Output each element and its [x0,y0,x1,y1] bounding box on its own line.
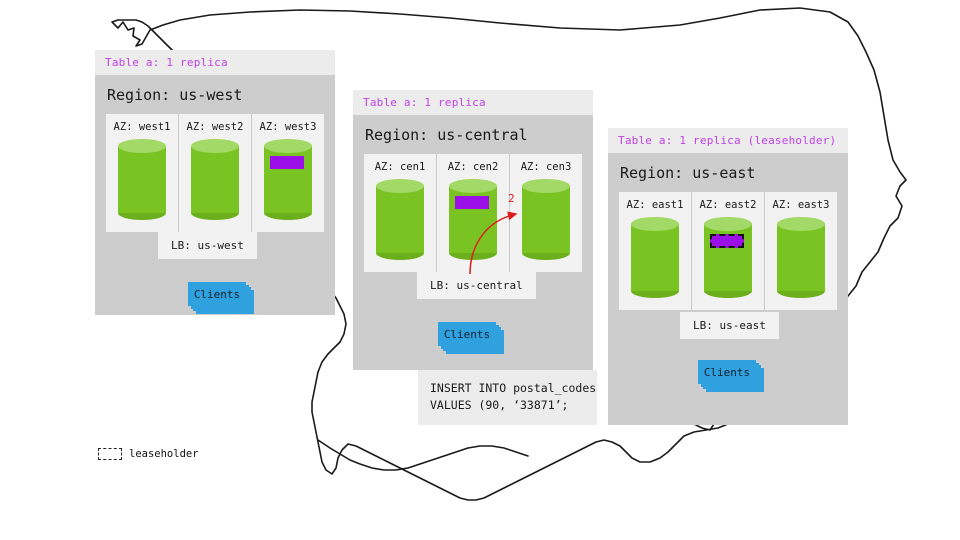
region-title-us-east: Region: us-east [608,153,848,192]
az-cell-cen1[interactable]: AZ: cen1 [364,154,437,272]
az-label-cen2: AZ: cen2 [448,161,499,173]
az-cell-west3[interactable]: AZ: west3 [252,114,324,232]
region-panel-us-west: Table a: 1 replica Region: us-west AZ: w… [95,50,335,315]
az-cell-east2[interactable]: AZ: east2 [692,192,765,310]
replica-block-west3 [270,156,304,169]
routing-arrow-label: 2 [508,192,515,205]
region-header-us-central: Table a: 1 replica [353,90,593,115]
az-label-west3: AZ: west3 [260,121,317,133]
cylinder-body [191,146,239,213]
az-label-cen1: AZ: cen1 [375,161,426,173]
region-title-us-central: Region: us-central [353,115,593,154]
cylinder-top [118,139,166,153]
legend-label: leaseholder [129,448,199,460]
cylinder-top [631,217,679,231]
az-label-west2: AZ: west2 [187,121,244,133]
az-strip-us-east: AZ: east1 AZ: east2 [619,192,837,310]
load-balancer-us-central[interactable]: LB: us-central [417,272,536,299]
cylinder-top [777,217,825,231]
replica-block-cen2 [455,196,489,209]
az-cell-east3[interactable]: AZ: east3 [765,192,837,310]
region-panel-us-central: Table a: 1 replica Region: us-central AZ… [353,90,593,370]
az-cell-cen2[interactable]: AZ: cen2 [437,154,510,272]
az-cell-west1[interactable]: AZ: west1 [106,114,179,232]
node-cylinder-cen3[interactable] [522,179,570,260]
cylinder-body [777,224,825,291]
az-label-east2: AZ: east2 [700,199,757,211]
node-cylinder-east3[interactable] [777,217,825,298]
cylinder-top [522,179,570,193]
az-strip-us-west: AZ: west1 AZ: west2 [106,114,324,232]
clients-stack-us-west[interactable]: Clients [188,282,246,306]
load-balancer-us-west[interactable]: LB: us-west [158,232,257,259]
leaseholder-block-east2 [710,234,744,248]
az-cell-east1[interactable]: AZ: east1 [619,192,692,310]
node-cylinder-east2[interactable] [704,217,752,298]
cylinder-top [449,179,497,193]
cylinder-top [704,217,752,231]
clients-label-us-east[interactable]: Clients [698,360,756,384]
load-balancer-us-east[interactable]: LB: us-east [680,312,779,339]
az-cell-west2[interactable]: AZ: west2 [179,114,252,232]
region-panel-us-east: Table a: 1 replica (leaseholder) Region:… [608,128,848,425]
cylinder-top [376,179,424,193]
az-label-west1: AZ: west1 [114,121,171,133]
node-cylinder-cen1[interactable] [376,179,424,260]
region-title-us-west: Region: us-west [95,75,335,114]
cylinder-top [264,139,312,153]
clients-label-us-central[interactable]: Clients [438,322,496,346]
legend: leaseholder [98,448,199,460]
cylinder-body [631,224,679,291]
az-cell-cen3[interactable]: AZ: cen3 [510,154,582,272]
diagram-canvas: Table a: 1 replica Region: us-west AZ: w… [0,0,960,540]
az-label-east1: AZ: east1 [627,199,684,211]
sql-statement-box: INSERT INTO postal_codes VALUES (90, ‘33… [418,370,597,425]
cylinder-body [376,186,424,253]
node-cylinder-west1[interactable] [118,139,166,220]
clients-stack-us-east[interactable]: Clients [698,360,756,384]
region-header-us-east: Table a: 1 replica (leaseholder) [608,128,848,153]
az-label-cen3: AZ: cen3 [521,161,572,173]
clients-stack-us-central[interactable]: Clients [438,322,496,346]
node-cylinder-cen2[interactable] [449,179,497,260]
cylinder-body [118,146,166,213]
clients-label-us-west[interactable]: Clients [188,282,246,306]
node-cylinder-west2[interactable] [191,139,239,220]
region-header-us-west: Table a: 1 replica [95,50,335,75]
az-label-east3: AZ: east3 [773,199,830,211]
node-cylinder-east1[interactable] [631,217,679,298]
cylinder-body [522,186,570,253]
node-cylinder-west3[interactable] [264,139,312,220]
cylinder-top [191,139,239,153]
dashed-rect-icon [98,448,122,460]
az-strip-us-central: AZ: cen1 AZ: cen2 [364,154,582,272]
region-body-us-west: Region: us-west AZ: west1 AZ: west2 [95,75,335,315]
